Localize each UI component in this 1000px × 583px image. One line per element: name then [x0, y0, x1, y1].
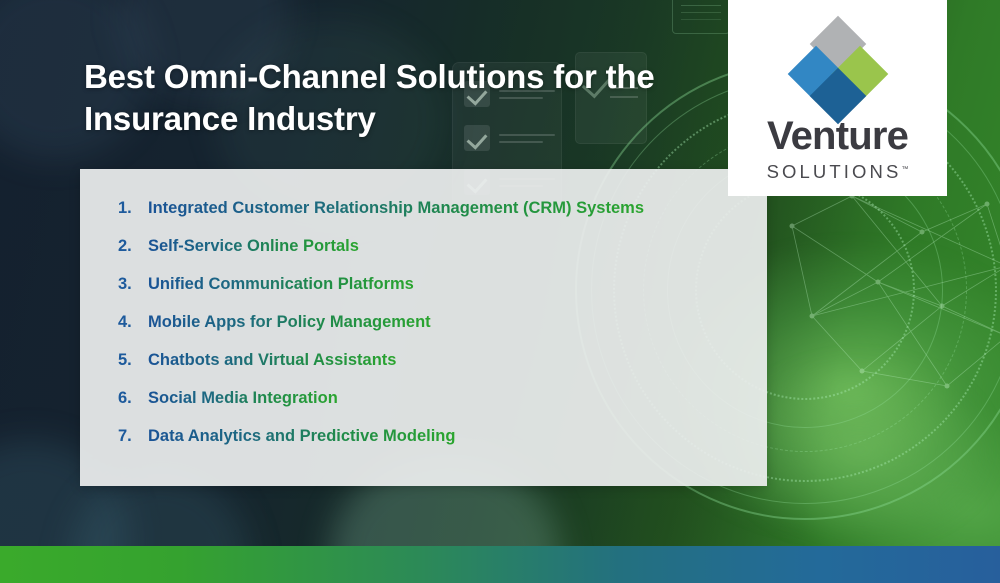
list-item-number: 1.	[118, 199, 148, 218]
logo-subtitle: SOLUTIONS™	[767, 163, 909, 182]
circuit-chip-icon	[672, 0, 730, 34]
feature-list-card: 1. Integrated Customer Relationship Mana…	[80, 169, 767, 486]
list-item-number: 2.	[118, 237, 148, 256]
logo-subtitle-text: SOLUTIONS	[767, 161, 902, 182]
list-item: 6. Social Media Integration	[118, 389, 767, 408]
venture-diamond-logo-icon	[789, 22, 887, 108]
list-item-label: Self-Service Online Portals	[148, 237, 359, 256]
list-item-label: Unified Communication Platforms	[148, 275, 414, 294]
bottom-accent-bar	[0, 546, 1000, 583]
page-title: Best Omni-Channel Solutions for the Insu…	[84, 56, 724, 139]
list-item-label: Mobile Apps for Policy Management	[148, 313, 431, 332]
network-mesh-graphic	[782, 186, 1000, 396]
feature-list: 1. Integrated Customer Relationship Mana…	[118, 199, 767, 446]
page-title-line-1: Best Omni-Channel Solutions for the	[84, 58, 655, 95]
list-item: 5. Chatbots and Virtual Assistants	[118, 351, 767, 370]
list-item-label: Chatbots and Virtual Assistants	[148, 351, 396, 370]
list-item: 3. Unified Communication Platforms	[118, 275, 767, 294]
list-item-number: 3.	[118, 275, 148, 294]
list-item: 4. Mobile Apps for Policy Management	[118, 313, 767, 332]
slide-canvas: Best Omni-Channel Solutions for the Insu…	[0, 0, 1000, 583]
list-item-label: Integrated Customer Relationship Managem…	[148, 199, 644, 218]
logo-container: Venture SOLUTIONS™	[728, 0, 947, 196]
list-item: 2. Self-Service Online Portals	[118, 237, 767, 256]
list-item-number: 5.	[118, 351, 148, 370]
list-item-label: Data Analytics and Predictive Modeling	[148, 427, 455, 446]
list-item-number: 4.	[118, 313, 148, 332]
list-item: 1. Integrated Customer Relationship Mana…	[118, 199, 767, 218]
list-item-number: 6.	[118, 389, 148, 408]
list-item: 7. Data Analytics and Predictive Modelin…	[118, 427, 767, 446]
list-item-label: Social Media Integration	[148, 389, 338, 408]
trademark-icon: ™	[901, 166, 908, 173]
page-title-line-2: Insurance Industry	[84, 100, 376, 137]
list-item-number: 7.	[118, 427, 148, 446]
